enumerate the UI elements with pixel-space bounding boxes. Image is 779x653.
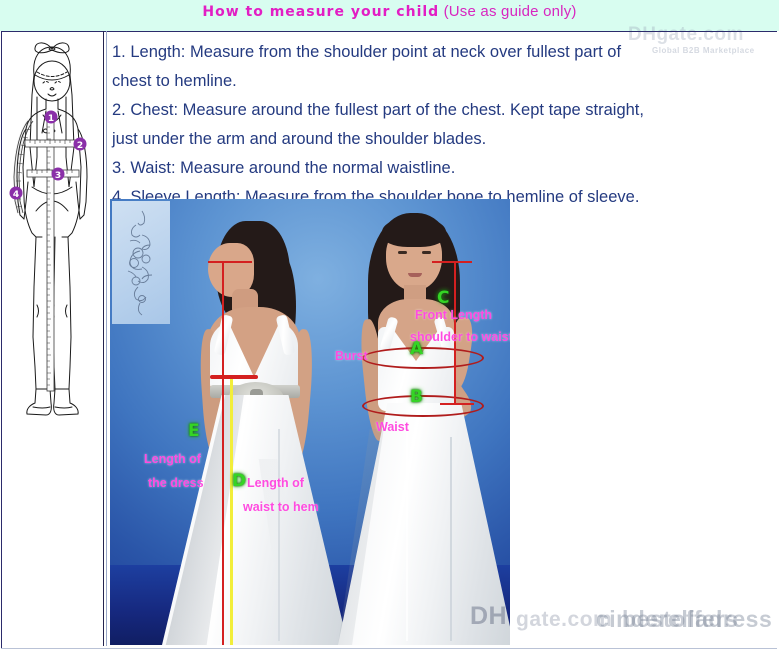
instruction-line-2: chest to hemline.: [112, 67, 772, 96]
diagram-marker-1: 1: [45, 111, 58, 125]
diagram-marker-4: 4: [10, 187, 23, 201]
marker-b: B: [410, 389, 423, 406]
page-title-sub: (Use as guide only): [444, 3, 577, 20]
svg-text:3: 3: [55, 171, 61, 181]
instructions-list: 1. Length: Measure from the shoulder poi…: [112, 38, 772, 212]
back-waist-marker: [210, 375, 258, 379]
length-line-red: [222, 261, 224, 645]
label-waist: Waist: [376, 420, 409, 434]
front-length-top-cap: [432, 261, 472, 263]
measurement-guide-page: How to measure your child (Use as guide …: [0, 0, 779, 653]
label-waist-to-hem-2: waist to hem: [243, 500, 319, 514]
measurement-photo: A Burst B Waist C Front Length shoulder …: [110, 199, 510, 645]
label-front-length: Front Length: [415, 308, 492, 322]
label-dress-length: Length of: [144, 452, 201, 466]
embroidery-detail-inset: [112, 201, 170, 324]
table-bottom-border: [1, 648, 777, 649]
instruction-line-1: 1. Length: Measure from the shoulder poi…: [112, 38, 772, 67]
label-dress-length-2: the dress: [148, 476, 204, 490]
waist-to-hem-line-yellow: [230, 377, 233, 645]
label-burst: Burst: [335, 349, 368, 363]
instruction-line-4: just under the arm and around the should…: [112, 125, 772, 154]
table-column-divider-inner: [106, 31, 107, 646]
marker-d: D: [232, 473, 246, 490]
svg-text:1: 1: [48, 114, 54, 124]
label-waist-to-hem: Length of: [247, 476, 304, 490]
page-title: How to measure your child (Use as guide …: [0, 3, 779, 20]
instruction-line-5: 3. Waist: Measure around the normal wais…: [112, 154, 772, 183]
marker-e: E: [188, 423, 200, 440]
marker-c: C: [437, 290, 449, 307]
instruction-line-3: 2. Chest: Measure around the fullest par…: [112, 96, 772, 125]
label-front-length-2: shoulder to waist: [410, 330, 510, 344]
svg-text:4: 4: [13, 190, 19, 200]
front-length-bottom-cap: [440, 403, 474, 405]
waist-ellipse: [362, 395, 484, 417]
child-figure-diagram: 1 2 3 4: [6, 37, 98, 437]
page-title-main: How to measure your child: [202, 4, 439, 20]
table-column-divider: [103, 31, 104, 646]
svg-text:2: 2: [77, 141, 83, 151]
measurement-diagram-cell: 1 2 3 4: [2, 33, 102, 645]
length-line-top-cap: [208, 261, 252, 263]
